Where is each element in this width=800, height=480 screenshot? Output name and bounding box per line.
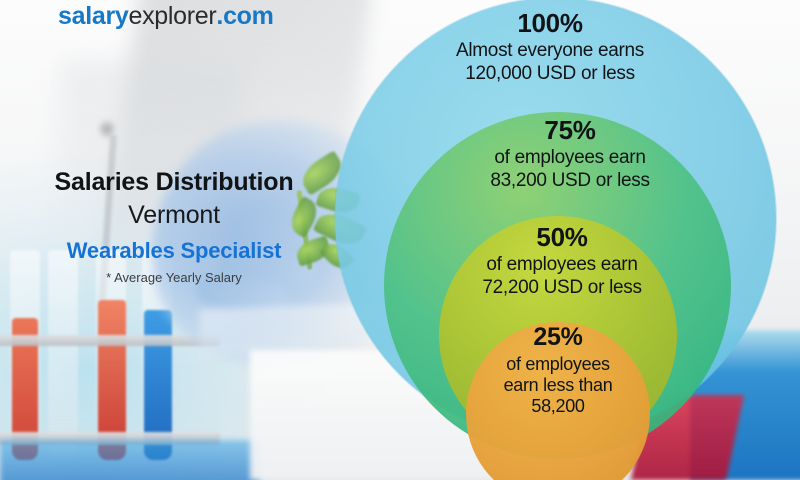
label-percentile-75: 75% of employees earn 83,200 USD or less	[440, 115, 700, 192]
percentile-75-line1: of employees earn	[440, 147, 700, 169]
percentile-25-value: 25%	[463, 323, 653, 352]
percentile-25-line1: of employees	[463, 354, 653, 375]
percentile-50-line2: 72,200 USD or less	[442, 277, 682, 299]
label-percentile-100: 100% Almost everyone earns 120,000 USD o…	[405, 8, 695, 85]
percentile-75-value: 75%	[440, 115, 700, 145]
label-percentile-25: 25% of employees earn less than 58,200	[463, 323, 653, 417]
percentile-25-line2: earn less than	[463, 375, 653, 396]
percentile-100-line1: Almost everyone earns	[405, 40, 695, 62]
percentile-75-line2: 83,200 USD or less	[440, 170, 700, 192]
percentile-circles: 100% Almost everyone earns 120,000 USD o…	[0, 0, 800, 480]
infographic-canvas: salaryexplorer.com Salaries Distribution…	[0, 0, 800, 480]
percentile-25-line3: 58,200	[463, 396, 653, 417]
percentile-50-value: 50%	[442, 222, 682, 252]
percentile-100-value: 100%	[405, 8, 695, 38]
percentile-50-line1: of employees earn	[442, 254, 682, 276]
label-percentile-50: 50% of employees earn 72,200 USD or less	[442, 222, 682, 299]
percentile-100-line2: 120,000 USD or less	[405, 63, 695, 85]
